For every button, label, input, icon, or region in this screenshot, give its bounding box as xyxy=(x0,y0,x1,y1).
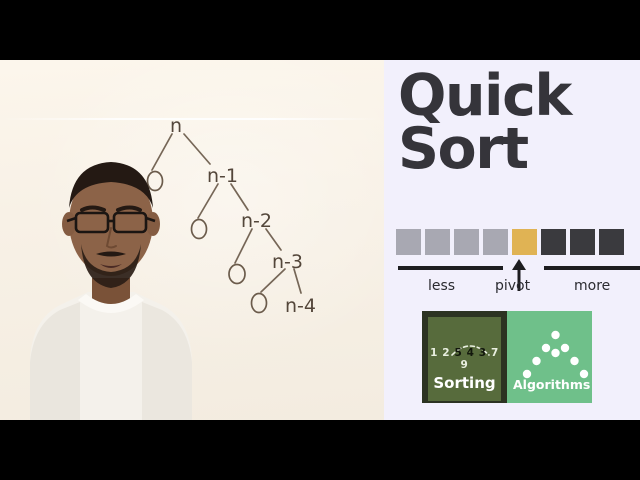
video-frame: n n-1 n-2 n-3 n-4 xyxy=(0,0,640,480)
badge-sorting-label: Sorting xyxy=(428,374,501,392)
badge-sorting-numbers: 1 2 5 4 3 7 9 xyxy=(428,347,501,371)
badge-algorithms-label: Algorithms xyxy=(513,377,586,392)
nums-highlight: 5 4 3 xyxy=(454,347,486,359)
square-less-3 xyxy=(454,229,479,255)
square-less-2 xyxy=(425,229,450,255)
title-line-2: Sort xyxy=(398,123,630,176)
badge-sorting[interactable]: 1 2 5 4 3 7 9 Sorting xyxy=(422,311,507,403)
tree-node-n-1: n-1 xyxy=(207,165,238,187)
square-pivot xyxy=(512,229,537,255)
letterbox-top xyxy=(0,0,640,60)
tree-node-n-2: n-2 xyxy=(241,210,272,232)
topic-badges: 1 2 5 4 3 7 9 Sorting xyxy=(422,311,592,403)
square-more-2 xyxy=(570,229,595,255)
algorithm-dots-icon xyxy=(521,329,590,381)
pivot-partition-squares xyxy=(396,229,628,255)
whiteboard-photo: n n-1 n-2 n-3 n-4 xyxy=(0,60,384,420)
label-more: more xyxy=(574,278,610,294)
more-rule xyxy=(544,266,640,270)
square-more-3 xyxy=(599,229,624,255)
content-band: n n-1 n-2 n-3 n-4 xyxy=(0,60,640,420)
square-more-1 xyxy=(541,229,566,255)
partition-labels: less pivot more xyxy=(396,278,640,298)
square-less-4 xyxy=(483,229,508,255)
tree-node-n-4: n-4 xyxy=(285,295,316,317)
less-rule xyxy=(398,266,503,270)
letterbox-bottom xyxy=(0,420,640,480)
label-pivot: pivot xyxy=(495,278,530,294)
partition-rules xyxy=(396,260,628,276)
presenter xyxy=(18,112,204,420)
label-less: less xyxy=(428,278,455,294)
square-less-1 xyxy=(396,229,421,255)
title-card-panel: Quick Sort xyxy=(384,60,640,420)
tree-node-n-3: n-3 xyxy=(272,251,303,273)
nums-left: 1 2 xyxy=(430,347,454,359)
badge-algorithms[interactable]: Algorithms xyxy=(507,311,592,403)
page-title: Quick Sort xyxy=(398,70,630,176)
